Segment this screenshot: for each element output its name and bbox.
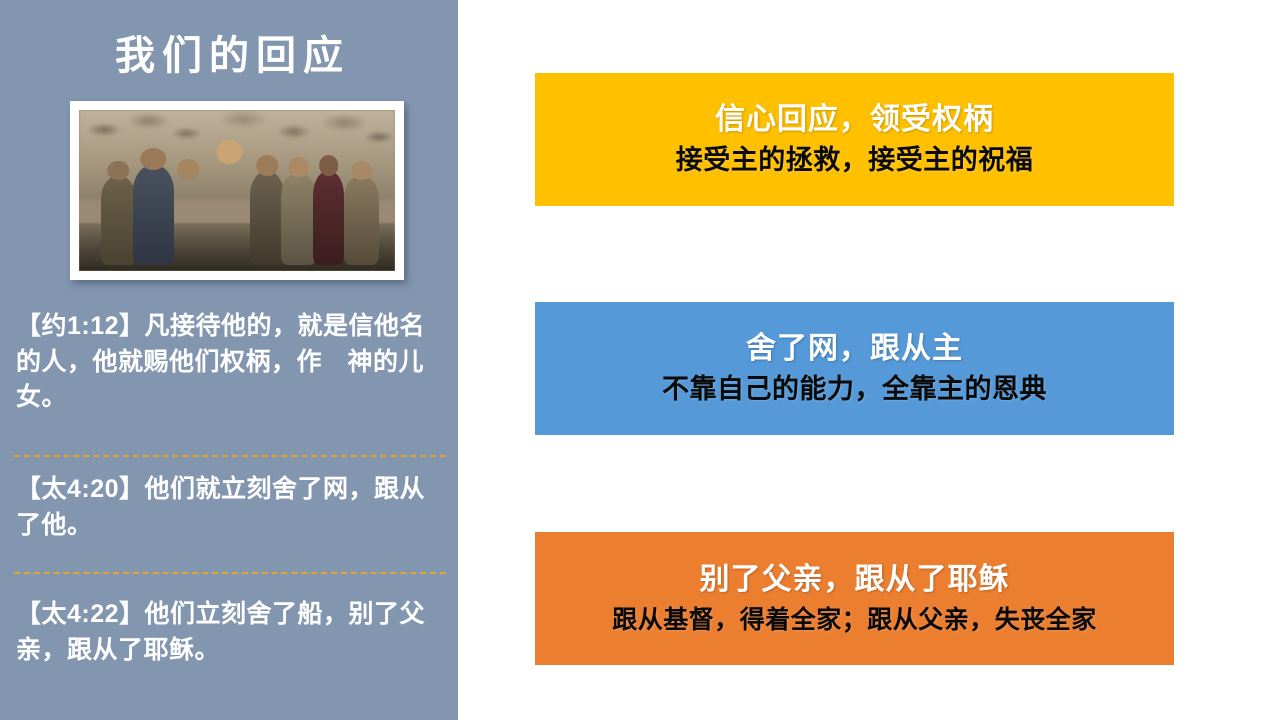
figure-head-icon [216, 140, 241, 163]
point-box-heading: 舍了网，跟从主 [746, 330, 963, 368]
point-box-subtext: 跟从基督，得着全家；跟从父亲，失丧全家 [612, 604, 1097, 637]
point-box-heading: 别了父亲，跟从了耶稣 [700, 561, 1010, 599]
figure-8 [344, 176, 379, 265]
divider-1 [14, 455, 446, 457]
figure-head-icon [108, 161, 130, 180]
figure-7 [313, 171, 345, 264]
divider-2 [14, 572, 446, 574]
figure-1 [101, 176, 136, 265]
page-title: 我们的回应 [0, 33, 458, 79]
point-box-leave-father: 别了父亲，跟从了耶稣 跟从基督，得着全家；跟从父亲，失丧全家 [535, 532, 1174, 665]
figure-jesus [209, 158, 250, 264]
figure-head-icon [319, 155, 339, 176]
scripture-john-1-12: 【约1:12】凡接待他的，就是信他名的人，他就赐他们权柄，作 神的儿女。 [16, 309, 444, 416]
photo-frame [70, 101, 404, 280]
point-box-subtext: 接受主的拯救，接受主的祝福 [676, 143, 1034, 178]
figure-3 [171, 174, 206, 264]
scripture-matthew-4-20: 【太4:20】他们就立刻舍了网，跟从了他。 [16, 472, 444, 543]
figure-head-icon [141, 148, 166, 170]
figure-head-icon [351, 161, 373, 180]
scripture-matthew-4-22: 【太4:22】他们立刻舍了船，别了父亲，跟从了耶稣。 [16, 597, 444, 668]
point-box-subtext: 不靠自己的能力，全靠主的恩典 [662, 372, 1047, 407]
figure-head-icon [177, 159, 199, 179]
left-panel: 我们的回应 【约1:12】凡接待他的，就是信他名的人，他就赐他们权柄，作 神的儿… [0, 0, 458, 720]
jesus-and-disciples-photo [79, 110, 395, 271]
point-box-leave-nets: 舍了网，跟从主 不靠自己的能力，全靠主的恩典 [535, 302, 1174, 435]
point-box-faith-response: 信心回应，领受权柄 接受主的拯救，接受主的祝福 [535, 73, 1174, 206]
figure-6 [281, 173, 316, 265]
point-box-heading: 信心回应，领受权柄 [715, 101, 994, 139]
presentation-slide: 我们的回应 【约1:12】凡接待他的，就是信他名的人，他就赐他们权柄，作 神的儿… [0, 0, 1280, 720]
figure-head-icon [288, 157, 310, 177]
figure-5 [250, 171, 285, 264]
figure-head-icon [256, 155, 278, 176]
figure-2 [133, 165, 174, 265]
